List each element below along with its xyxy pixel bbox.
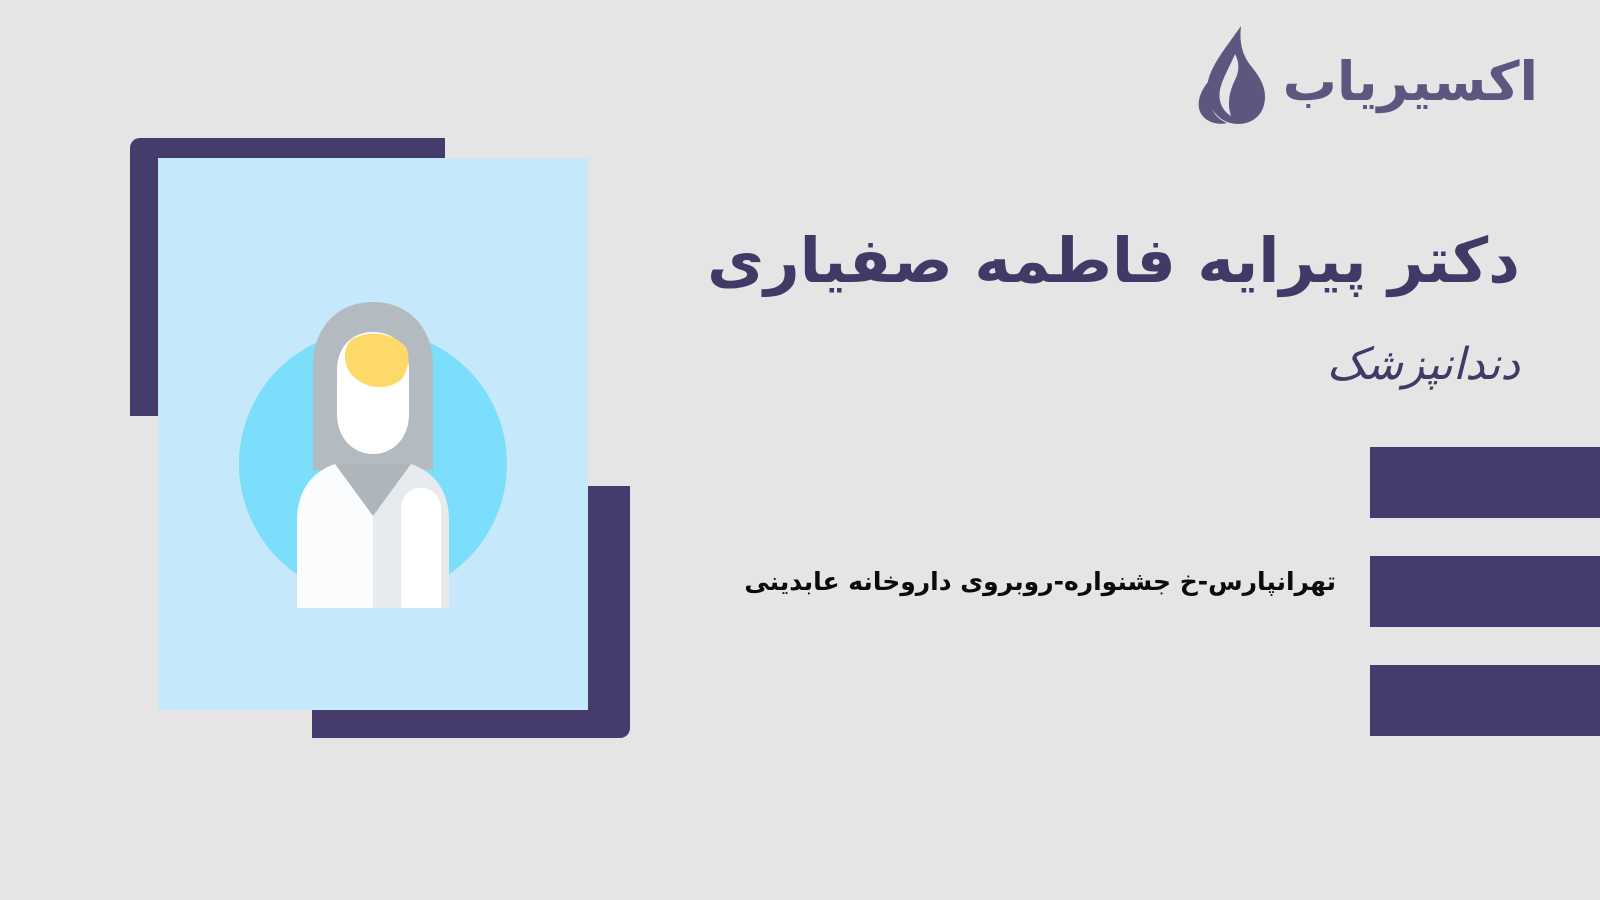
doctor-name-heading: دکتر پیرایه فاطمه صفیاری	[620, 222, 1520, 300]
profile-card-canvas: اکسیریاب	[0, 0, 1600, 900]
brand-logo[interactable]: اکسیریاب	[1191, 18, 1538, 134]
decor-bar-2	[1370, 556, 1600, 627]
avatar-photo-card	[158, 158, 588, 710]
female-doctor-avatar-icon	[239, 288, 507, 608]
brand-name-label: اکسیریاب	[1283, 55, 1538, 109]
decor-bar-3	[1370, 665, 1600, 736]
doctor-illustration	[130, 138, 630, 738]
doctor-address-text: تهرانپارس-خ جشنواره-روبروی داروخانه عابد…	[576, 564, 1336, 599]
flame-droplet-icon	[1191, 24, 1269, 128]
doctor-specialty-label: دندانپزشک	[620, 336, 1520, 393]
decor-bar-1	[1370, 447, 1600, 518]
